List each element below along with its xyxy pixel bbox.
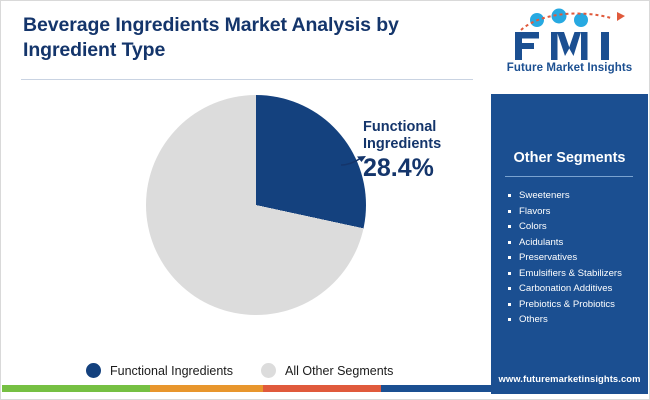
pie-slices	[146, 95, 366, 315]
chart-panel: Beverage Ingredients Market Analysis by …	[1, 1, 493, 393]
callout-value: 28.4%	[363, 155, 488, 183]
callout-label-line2: Ingredients	[363, 136, 488, 153]
strip-segment-green	[2, 385, 150, 392]
callout-box: Functional Ingredients 28.4%	[363, 119, 488, 183]
segment-list-item: Sweeteners	[507, 188, 647, 204]
bullet-icon	[508, 303, 511, 306]
other-segments-list: SweetenersFlavorsColorsAcidulantsPreserv…	[507, 188, 647, 328]
bullet-icon	[508, 210, 511, 213]
website-url: www.futuremarketinsights.com	[491, 373, 648, 384]
segment-list-item-label: Acidulants	[519, 237, 563, 248]
infographic-page: Beverage Ingredients Market Analysis by …	[0, 0, 650, 400]
segment-list-item-label: Carbonation Additives	[519, 283, 612, 294]
segment-list-item: Flavors	[507, 204, 647, 220]
strip-segment-blue	[381, 385, 494, 392]
legend-label-functional-ingredients: Functional Ingredients	[110, 364, 233, 378]
segment-list-item-label: Colors	[519, 221, 547, 232]
bullet-icon	[508, 318, 511, 321]
segment-list-item: Colors	[507, 219, 647, 235]
segment-list-item-label: Flavors	[519, 206, 550, 217]
sidebar-panel: Future Market Insights Other Segments Sw…	[491, 2, 648, 394]
segment-list-item: Preservatives	[507, 250, 647, 266]
chart-legend: Functional Ingredients All Other Segment…	[86, 363, 393, 378]
title-divider	[21, 79, 473, 80]
segment-list-item: Emulsifiers & Stabilizers	[507, 266, 647, 282]
segment-list-item-label: Sweeteners	[519, 190, 570, 201]
bullet-icon	[508, 272, 511, 275]
brand-logo-block: Future Market Insights	[491, 2, 648, 94]
segment-list-item-label: Emulsifiers & Stabilizers	[519, 268, 622, 279]
segment-list-item: Others	[507, 312, 647, 328]
pie-chart	[146, 95, 366, 315]
segment-list-item-label: Prebiotics & Probiotics	[519, 299, 615, 310]
bullet-icon	[508, 194, 511, 197]
bullet-icon	[508, 241, 511, 244]
bullet-icon	[508, 256, 511, 259]
strip-segment-red	[263, 385, 381, 392]
legend-label-all-other-segments: All Other Segments	[285, 364, 393, 378]
callout-label-line1: Functional	[363, 119, 488, 136]
bottom-color-strip	[2, 385, 494, 392]
bullet-icon	[508, 225, 511, 228]
fmi-logo-icon	[507, 8, 633, 64]
segment-list-item: Acidulants	[507, 235, 647, 251]
segment-list-item-label: Preservatives	[519, 252, 577, 263]
legend-swatch-all-other-segments	[261, 363, 276, 378]
legend-item-functional-ingredients: Functional Ingredients	[86, 363, 233, 378]
segment-list-item: Carbonation Additives	[507, 281, 647, 297]
legend-swatch-functional-ingredients	[86, 363, 101, 378]
segment-list-item-label: Others	[519, 314, 548, 325]
other-segments-divider	[505, 176, 633, 177]
legend-item-all-other-segments: All Other Segments	[261, 363, 393, 378]
page-title: Beverage Ingredients Market Analysis by …	[23, 13, 423, 63]
bullet-icon	[508, 287, 511, 290]
segment-list-item: Prebiotics & Probiotics	[507, 297, 647, 313]
other-segments-title: Other Segments	[491, 150, 648, 166]
brand-tagline: Future Market Insights	[491, 62, 648, 74]
strip-segment-orange	[150, 385, 263, 392]
